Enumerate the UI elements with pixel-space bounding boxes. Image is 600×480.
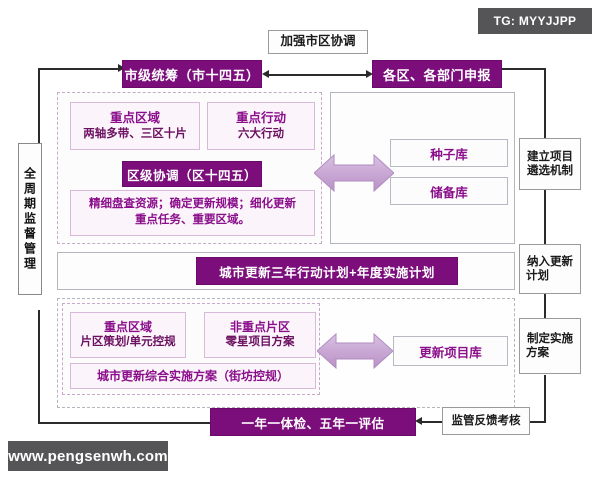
- card-non-key-area-project-sub: 零星项目方案: [226, 335, 295, 351]
- connector-district-to-chain: [501, 68, 545, 70]
- card-comprehensive-implementation-plan-label: 城市更新综合实施方案（街坊控规）: [97, 368, 289, 384]
- card-key-area-strategy-title: 重点区域: [110, 110, 160, 127]
- chain-box-implementation-plan[interactable]: 制定实施 方案: [519, 318, 581, 374]
- box-annual-inspection-evaluation-label: 一年一体检、五年一评估: [241, 413, 384, 432]
- double-arrow-icon-lower: [317, 331, 393, 371]
- connector-left-rail-top: [38, 68, 120, 70]
- card-project-library[interactable]: 更新项目库: [393, 336, 508, 366]
- watermark-site-text: www.pengsenwh.com: [8, 448, 168, 465]
- connector-chain-trunk-3: [544, 293, 546, 318]
- card-seed-library-label: 种子库: [430, 144, 468, 163]
- left-rail-label: 全周期监督管理: [22, 167, 39, 272]
- box-supervision-feedback-assessment-label: 监管反馈考核: [452, 414, 521, 428]
- box-city-level-planning-label: 市级统筹（市十四五）: [124, 65, 259, 84]
- chain-box-project-selection-line2: 遴选机制: [527, 164, 573, 178]
- card-seed-library[interactable]: 种子库: [390, 139, 508, 167]
- card-reserve-library[interactable]: 储备库: [390, 177, 508, 205]
- watermark-tg-tag: TG: MYYJJPP: [478, 8, 592, 34]
- left-rail-full-cycle-supervision[interactable]: 全周期监督管理: [18, 143, 42, 295]
- card-non-key-area-project[interactable]: 非重点片区 零星项目方案: [204, 312, 316, 358]
- card-key-action-title: 重点行动: [236, 110, 286, 127]
- card-key-area-planning[interactable]: 重点区域 片区策划/单元控规: [70, 312, 186, 358]
- watermark-site: www.pengsenwh.com: [8, 441, 168, 471]
- connector-city-district: [268, 74, 368, 76]
- box-district-coordination-label: 区级协调（区十四五）: [127, 165, 257, 184]
- box-three-year-action-plan[interactable]: 城市更新三年行动计划+年度实施计划: [196, 257, 458, 285]
- card-resource-detail-line1: 精细盘查资源；确定更新规模；细化更新: [89, 197, 296, 213]
- connector-chain-trunk-2: [544, 190, 546, 245]
- card-project-library-label: 更新项目库: [419, 342, 482, 361]
- box-supervision-feedback-assessment[interactable]: 监管反馈考核: [442, 407, 530, 435]
- box-city-coordination-label: 加强市区协调: [280, 34, 355, 50]
- arrow-left-icon-city-district: [262, 70, 269, 78]
- connector-left-rail-bottom: [38, 422, 210, 424]
- connector-feedback-to-bottom: [420, 421, 442, 423]
- chain-box-implementation-plan-line1: 制定实施: [527, 332, 573, 346]
- box-annual-inspection-evaluation[interactable]: 一年一体检、五年一评估: [210, 408, 416, 436]
- card-key-action-sub: 六大行动: [238, 127, 284, 143]
- box-three-year-action-plan-label: 城市更新三年行动计划+年度实施计划: [219, 262, 435, 281]
- box-district-declaration-label: 各区、各部门申报: [383, 65, 491, 84]
- double-arrow-icon-upper: [314, 152, 394, 194]
- connector-left-rail-bottom-vertical: [38, 310, 40, 423]
- chain-box-implementation-plan-line2: 方案: [520, 346, 549, 360]
- watermark-tg-tag-text: TG: MYYJJPP: [494, 14, 577, 28]
- chain-box-include-plan[interactable]: 纳入更新 计划: [519, 244, 581, 294]
- box-district-declaration[interactable]: 各区、各部门申报: [372, 60, 502, 88]
- card-reserve-library-label: 储备库: [430, 182, 468, 201]
- card-non-key-area-project-title: 非重点片区: [230, 319, 290, 335]
- connector-chain-trunk-4: [544, 375, 546, 422]
- arrow-left-icon-feedback: [415, 417, 422, 425]
- chain-box-include-plan-line1: 纳入更新: [527, 255, 573, 269]
- card-key-area-strategy-sub: 两轴多带、三区十片: [83, 127, 187, 143]
- chain-box-project-selection[interactable]: 建立项目 遴选机制: [519, 138, 581, 190]
- card-key-area-strategy[interactable]: 重点区域 两轴多带、三区十片: [70, 102, 200, 150]
- chain-box-project-selection-line1: 建立项目: [527, 150, 573, 164]
- box-city-level-planning[interactable]: 市级统筹（市十四五）: [122, 60, 262, 88]
- card-key-area-planning-title: 重点区域: [104, 319, 152, 335]
- card-key-action[interactable]: 重点行动 六大行动: [207, 102, 315, 150]
- card-resource-detail[interactable]: 精细盘查资源；确定更新规模；细化更新 重点任务、重要区域。: [70, 190, 315, 236]
- diagram-canvas: 加强市区协调 市级统筹（市十四五） 各区、各部门申报 全周期监督管理 重点区域 …: [0, 0, 600, 480]
- box-district-coordination[interactable]: 区级协调（区十四五）: [122, 161, 262, 187]
- card-resource-detail-line2: 重点任务、重要区域。: [135, 213, 250, 229]
- connector-chain-trunk-1: [544, 68, 546, 138]
- card-comprehensive-implementation-plan[interactable]: 城市更新综合实施方案（街坊控规）: [70, 363, 316, 389]
- box-city-coordination[interactable]: 加强市区协调: [268, 30, 368, 54]
- chain-box-include-plan-line2: 计划: [520, 269, 549, 283]
- card-key-area-planning-sub: 片区策划/单元控规: [80, 335, 175, 351]
